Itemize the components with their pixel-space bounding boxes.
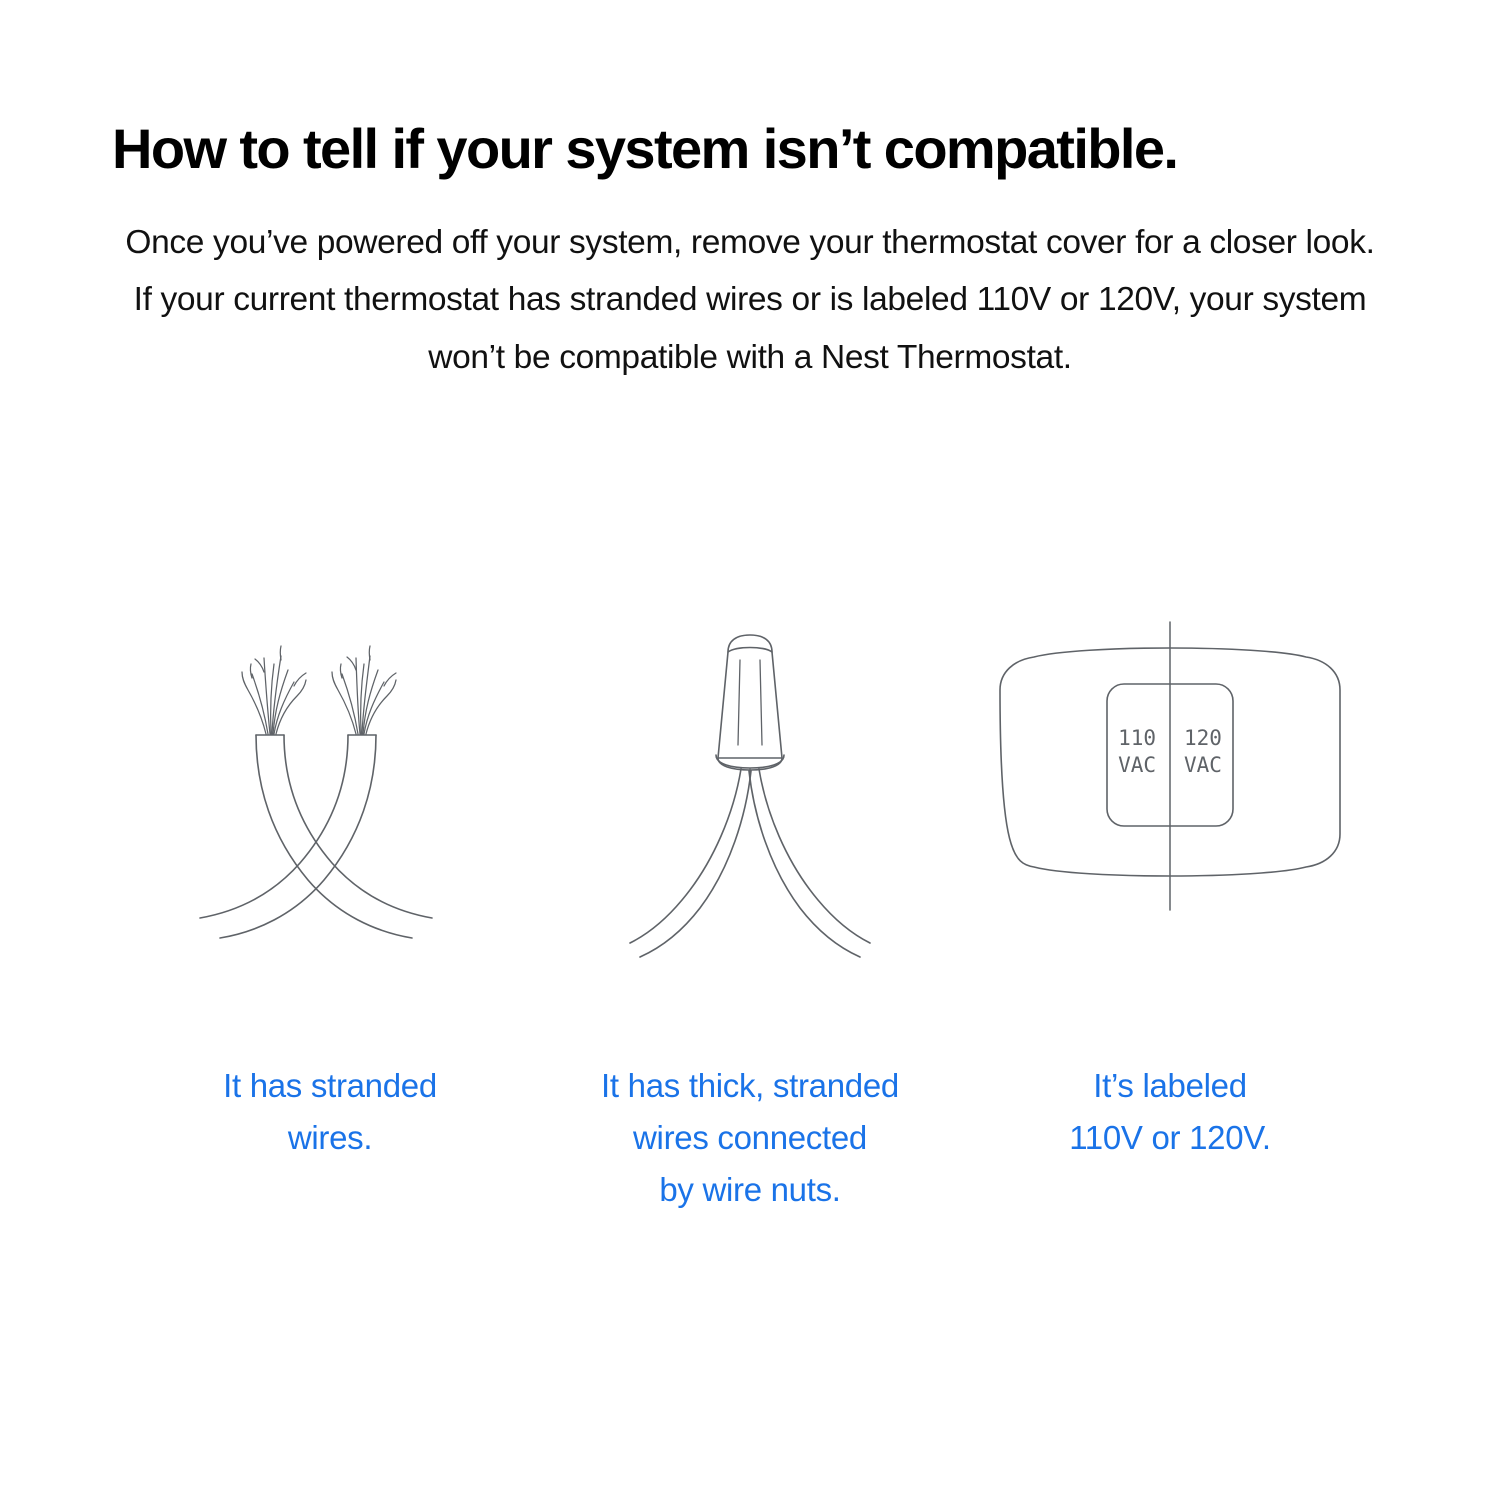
sign-card-wire-nuts: It has thick, stranded wires connected b… — [540, 612, 960, 1216]
voltage-left-unit: VAC — [1118, 753, 1156, 777]
caption-line: It has stranded — [223, 1060, 437, 1112]
header: How to tell if your system isn’t compati… — [0, 0, 1500, 387]
compatibility-info-page: How to tell if your system isn’t compati… — [0, 0, 1500, 1500]
thermostat-label-figure: 110 VAC 120 VAC — [960, 612, 1380, 1032]
intro-paragraph: Once you’ve powered off your system, rem… — [0, 181, 1500, 387]
compatibility-signs-row: It has stranded wires. — [0, 612, 1500, 1216]
thermostat-voltage-label-illustration: 110 VAC 120 VAC — [960, 612, 1380, 972]
sign-card-voltage-label: 110 VAC 120 VAC It’s labeled 110V or 120… — [960, 612, 1380, 1164]
intro-line-1: Once you’ve powered off your system, rem… — [125, 224, 1173, 261]
caption-line: It’s labeled — [1069, 1060, 1271, 1112]
caption-line: by wire nuts. — [601, 1164, 899, 1216]
caption-line: 110V or 120V. — [1069, 1112, 1271, 1164]
caption-voltage-label: It’s labeled 110V or 120V. — [1069, 1060, 1271, 1164]
caption-wire-nuts: It has thick, stranded wires connected b… — [601, 1060, 899, 1216]
caption-line: wires connected — [601, 1112, 899, 1164]
voltage-right-unit: VAC — [1184, 753, 1222, 777]
page-title: How to tell if your system isn’t compati… — [0, 118, 1500, 181]
stranded-wires-illustration — [180, 612, 480, 972]
wire-nut-figure — [540, 612, 960, 1032]
caption-line: It has thick, stranded — [601, 1060, 899, 1112]
wire-nut-illustration — [600, 612, 900, 972]
voltage-left-value: 110 — [1118, 726, 1156, 750]
stranded-wires-figure — [120, 612, 540, 1032]
caption-line: wires. — [223, 1112, 437, 1164]
caption-stranded-wires: It has stranded wires. — [223, 1060, 437, 1164]
voltage-right-value: 120 — [1184, 726, 1222, 750]
sign-card-stranded-wires: It has stranded wires. — [120, 612, 540, 1164]
